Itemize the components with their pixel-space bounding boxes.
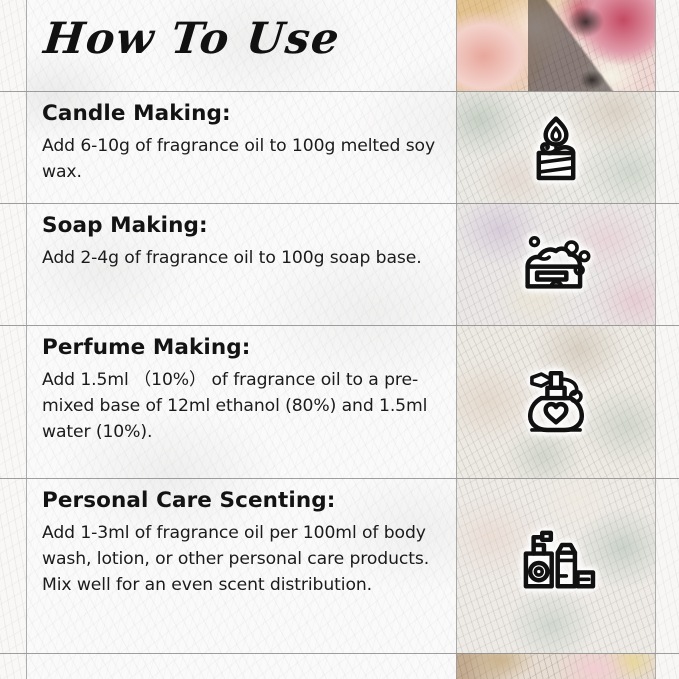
photo-column: [456, 0, 655, 679]
floral-photo-personal-care: [456, 478, 655, 653]
section-body: Add 1.5ml （10%） of fragrance oil to a pr…: [42, 367, 456, 445]
paper-edge-right: [655, 0, 679, 679]
divider-after-title: [0, 91, 679, 92]
soap-bar-icon: [512, 220, 600, 308]
paper-edge-left: [0, 0, 26, 679]
floral-photo-soap: [456, 203, 655, 325]
candle-icon: [512, 103, 600, 191]
page-title: How To Use: [41, 14, 342, 64]
floral-photo-perfume: [456, 325, 655, 478]
section-soap-making: Soap Making: Add 2-4g of fragrance oil t…: [26, 213, 456, 271]
divider-after-soap: [0, 325, 679, 326]
divider-after-candle: [0, 203, 679, 204]
section-perfume-making: Perfume Making: Add 1.5ml （10%） of fragr…: [26, 335, 456, 445]
section-candle-making: Candle Making: Add 6-10g of fragrance oi…: [26, 101, 456, 185]
section-heading: Perfume Making:: [42, 335, 456, 360]
divider-after-perfume: [0, 478, 679, 479]
perfume-bottle-icon: [512, 355, 600, 443]
section-body: Add 6-10g of fragrance oil to 100g melte…: [42, 133, 456, 185]
section-heading: Personal Care Scenting:: [42, 488, 456, 513]
divider-after-personal-care: [0, 653, 679, 654]
divider-photo-column-left: [456, 0, 457, 679]
section-heading: Soap Making:: [42, 213, 456, 238]
floral-photo-candle: [456, 91, 655, 203]
section-body: Add 1-3ml of fragrance oil per 100ml of …: [42, 520, 456, 598]
divider-photo-column-right: [655, 0, 656, 679]
section-personal-care-scenting: Personal Care Scenting: Add 1-3ml of fra…: [26, 488, 456, 598]
how-to-use-infographic: How To Use Candle Making: Add 6-10g of f…: [0, 0, 679, 679]
title-band: How To Use: [0, 0, 456, 91]
floral-photo-bottom: [456, 653, 655, 679]
section-body: Add 2-4g of fragrance oil to 100g soap b…: [42, 245, 456, 271]
personal-care-products-icon: [512, 513, 600, 601]
floral-photo-top: [456, 0, 655, 91]
section-heading: Candle Making:: [42, 101, 456, 126]
